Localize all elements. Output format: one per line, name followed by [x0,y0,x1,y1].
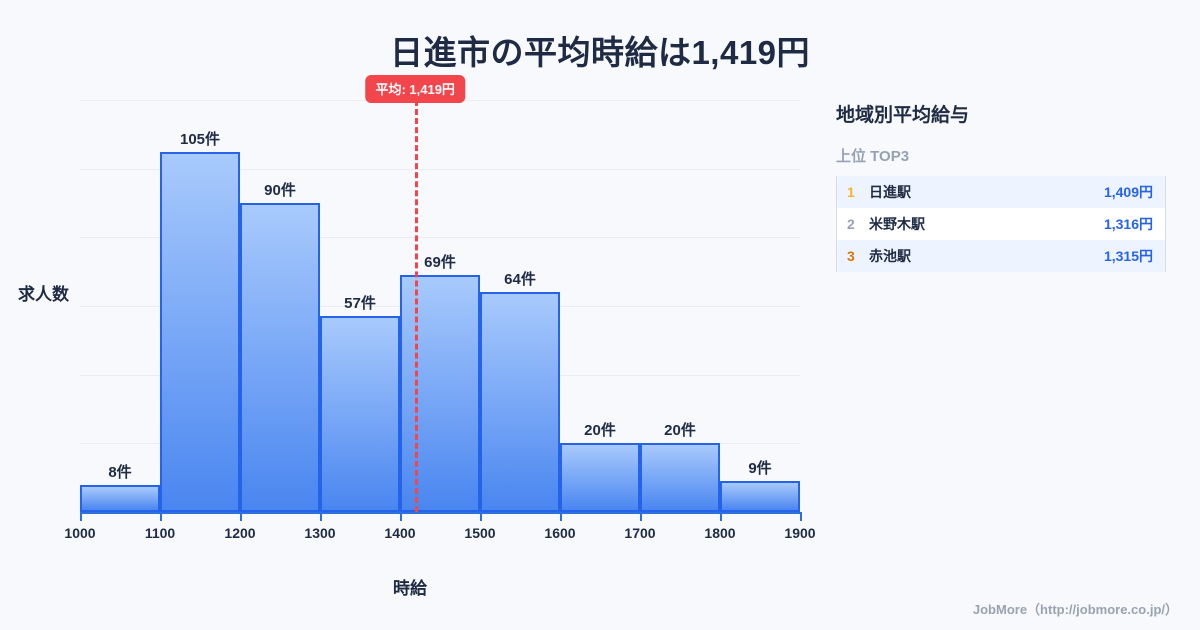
bar-value-label: 9件 [748,457,771,478]
footer-attribution: JobMore（http://jobmore.co.jp/） [973,599,1178,618]
x-axis-tick-label: 1800 [704,525,735,541]
histogram-bar [320,316,400,512]
bar-value-label: 8件 [108,461,131,482]
x-axis-tick [720,512,722,521]
rank-station-name: 日進駅 [869,182,1104,202]
x-axis-tick-label: 1000 [64,525,95,541]
ranking-row[interactable]: 3赤池駅1,315円 [837,240,1165,272]
x-axis-line [80,512,802,514]
average-badge: 平均: 1,419円 [365,75,464,103]
plot-area: 8件105件90件57件69件64件20件20件9件 [80,100,800,512]
rank-wage-value: 1,315円 [1104,246,1153,266]
rank-wage-value: 1,409円 [1104,182,1153,202]
y-axis-label: 求人数 [18,280,69,305]
bar-value-label: 64件 [504,268,536,289]
x-axis-tick-label: 1500 [464,525,495,541]
x-axis-tick [400,512,402,521]
histogram-bar [400,275,480,512]
x-axis-tick [640,512,642,521]
bar-value-label: 105件 [180,128,220,149]
x-axis-tick [240,512,242,521]
x-axis-tick [560,512,562,521]
histogram-bar [720,481,800,512]
histogram-chart: 8件105件90件57件69件64件20件20件9件 1000110012001… [0,0,820,630]
rank-number: 2 [847,216,869,232]
x-axis-tick [320,512,322,521]
ranking-row[interactable]: 1日進駅1,409円 [837,176,1165,208]
histogram-bar [640,443,720,512]
ranking-row[interactable]: 2米野木駅1,316円 [837,208,1165,240]
x-axis-tick-label: 1100 [145,525,175,541]
rank-wage-value: 1,316円 [1104,214,1153,234]
histogram-bar [480,292,560,512]
histogram-bar [560,443,640,512]
sidebar-subtitle: 上位 TOP3 [836,145,1166,166]
x-axis-tick [80,512,82,521]
x-axis-tick-label: 1600 [544,525,575,541]
x-axis-tick [160,512,162,521]
x-axis-tick-label: 1300 [304,525,335,541]
average-dashed-line [415,100,418,512]
x-axis-tick [800,512,802,521]
bar-value-label: 90件 [264,179,296,200]
chart-page: 日進市の平均時給は1,419円 8件105件90件57件69件64件20件20件… [0,0,1200,630]
x-axis-tick-label: 1700 [624,525,655,541]
x-axis-tick-label: 1400 [384,525,415,541]
histogram-bar [80,485,160,512]
x-axis-tick-label: 1900 [784,525,815,541]
sidebar-title: 地域別平均給与 [836,100,1166,127]
sidebar: 地域別平均給与 上位 TOP3 1日進駅1,409円2米野木駅1,316円3赤池… [836,100,1166,272]
ranking-list: 1日進駅1,409円2米野木駅1,316円3赤池駅1,315円 [836,176,1166,272]
rank-number: 3 [847,248,869,264]
x-axis-tick-label: 1200 [224,525,255,541]
bar-value-label: 20件 [584,419,616,440]
rank-station-name: 赤池駅 [869,246,1104,266]
bar-value-label: 57件 [344,292,376,313]
x-axis-label: 時給 [0,574,820,599]
histogram-bar [240,203,320,512]
bar-value-label: 69件 [424,251,456,272]
x-axis-tick [480,512,482,521]
histogram-bar [160,152,240,513]
bar-value-label: 20件 [664,419,696,440]
rank-station-name: 米野木駅 [869,214,1104,234]
rank-number: 1 [847,184,869,200]
